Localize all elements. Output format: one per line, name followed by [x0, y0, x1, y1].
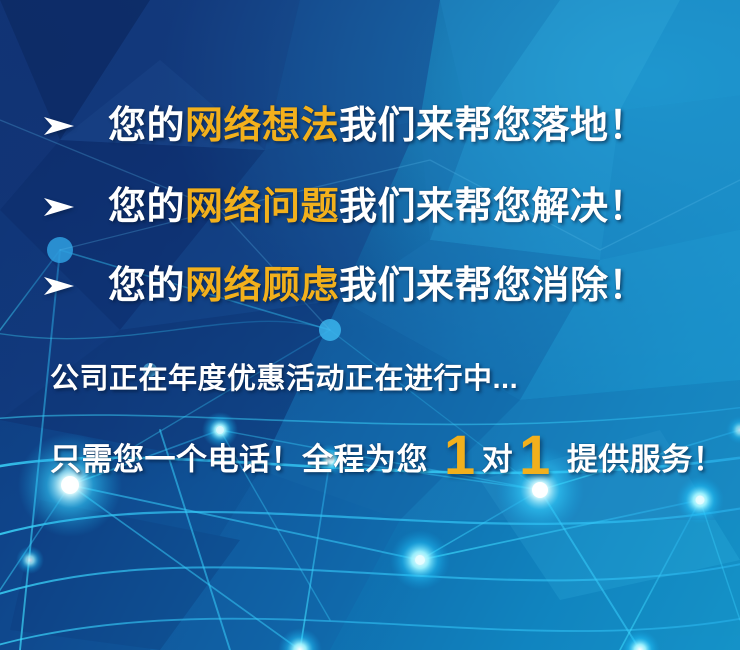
service-text-part2: 提供服务！	[567, 444, 725, 475]
banner-content: 您的网络想法我们来帮您落地！ 您的网络问题我们来帮您解决！ 您的网络顾虑我们来帮…	[0, 0, 740, 650]
headline-row-2: 您的网络问题我们来帮您解决！	[44, 188, 647, 226]
service-number-first: 1	[438, 433, 482, 478]
headline-3-prefix: 您的	[108, 265, 185, 307]
headline-3-suffix: 我们来帮您消除！	[339, 265, 647, 307]
service-text-middle: 对	[482, 444, 514, 475]
service-subline: 只需您一个电话！全程为您 1 对 1 提供服务！	[50, 429, 724, 475]
headline-row-1: 您的网络想法我们来帮您落地！	[44, 107, 647, 145]
headline-1-prefix: 您的	[108, 105, 185, 147]
service-text-part1: 只需您一个电话！全程为您	[50, 444, 428, 475]
headline-2-highlight: 网络问题	[185, 186, 339, 228]
arrow-right-icon	[44, 273, 74, 299]
headline-text-3: 您的网络顾虑我们来帮您消除！	[108, 267, 647, 305]
headline-text-1: 您的网络想法我们来帮您落地！	[108, 107, 647, 145]
headline-1-highlight: 网络想法	[185, 105, 339, 147]
headline-2-suffix: 我们来帮您解决！	[339, 186, 647, 228]
arrow-right-icon	[44, 113, 74, 139]
service-number-second: 1	[513, 433, 557, 478]
headline-text-2: 您的网络问题我们来帮您解决！	[108, 188, 647, 226]
headline-2-prefix: 您的	[108, 186, 185, 228]
headline-3-highlight: 网络顾虑	[185, 265, 339, 307]
headline-row-3: 您的网络顾虑我们来帮您消除！	[44, 267, 647, 305]
arrow-right-icon	[44, 194, 74, 220]
promo-subline: 公司正在年度优惠活动正在进行中...	[50, 365, 518, 394]
headline-1-suffix: 我们来帮您落地！	[339, 105, 647, 147]
promo-banner: 您的网络想法我们来帮您落地！ 您的网络问题我们来帮您解决！ 您的网络顾虑我们来帮…	[0, 0, 740, 650]
